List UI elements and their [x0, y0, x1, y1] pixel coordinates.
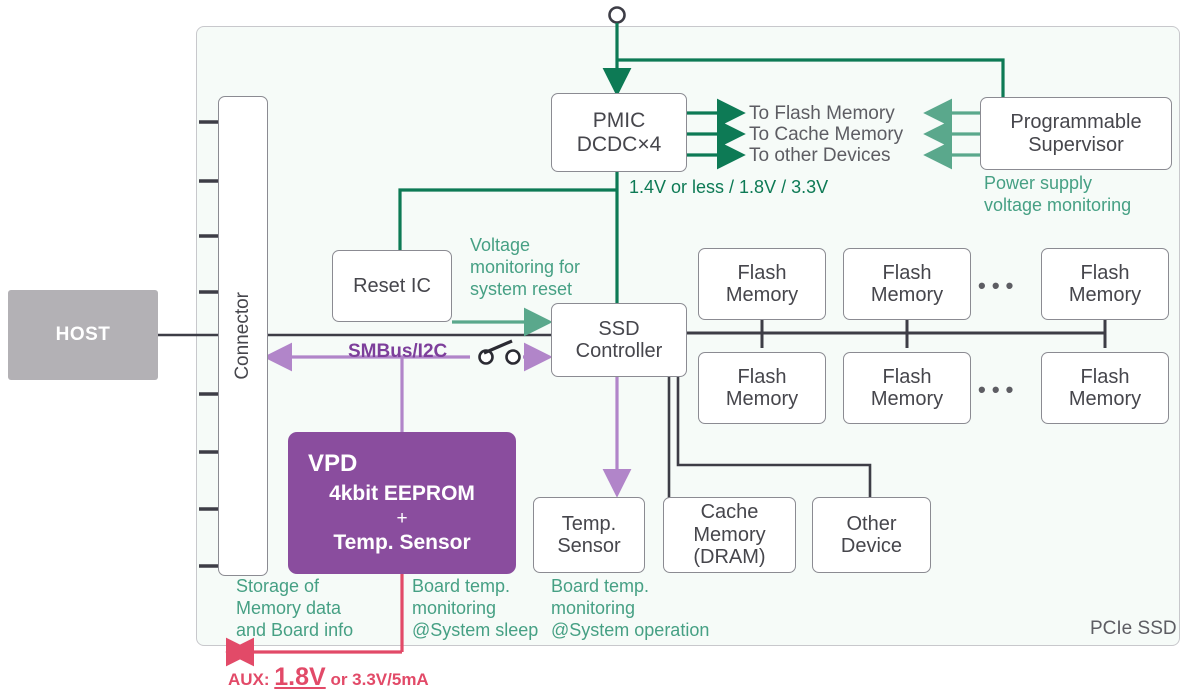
other-device-block[interactable]: Other Device	[812, 497, 931, 573]
temp-sleep-note-label: Board temp. monitoring @System sleep	[412, 575, 538, 641]
aux-suffix: or 3.3V/5mA	[326, 670, 429, 689]
vpd-block[interactable]: VPD 4kbit EEPROM + Temp. Sensor	[288, 432, 516, 574]
temp-sensor-block[interactable]: Temp. Sensor	[533, 497, 645, 573]
cache-memory-block[interactable]: Cache Memory (DRAM)	[663, 497, 796, 573]
connector-block[interactable]: Connector	[218, 96, 268, 576]
flash-row-bottom-ellipsis: • • •	[978, 376, 1013, 403]
vpd-line-4: Temp. Sensor	[333, 531, 470, 555]
reset-note-label: Voltage monitoring for system reset	[470, 234, 580, 300]
flash-memory-block[interactable]: Flash Memory	[843, 352, 971, 424]
aux-prefix: AUX:	[228, 670, 274, 689]
aux-power-label: AUX: 1.8V or 3.3V/5mA	[228, 662, 429, 693]
flash-memory-block[interactable]: Flash Memory	[1041, 248, 1169, 320]
temp-operation-note-label: Board temp. monitoring @System operation	[551, 575, 709, 641]
aux-highlight-value: 1.8V	[274, 663, 325, 691]
supervisor-note-label: Power supply voltage monitoring	[984, 172, 1131, 216]
flash-memory-block[interactable]: Flash Memory	[698, 248, 826, 320]
flash-memory-block[interactable]: Flash Memory	[843, 248, 971, 320]
vpd-plus-symbol: +	[396, 508, 407, 529]
flash-memory-block[interactable]: Flash Memory	[1041, 352, 1169, 424]
programmable-supervisor-block[interactable]: Programmable Supervisor	[980, 97, 1172, 170]
pcie-ssd-panel-label: PCIe SSD	[1090, 617, 1177, 640]
reset-ic-block[interactable]: Reset IC	[332, 250, 452, 322]
vpd-note-label: Storage of Memory data and Board info	[236, 575, 353, 641]
pmic-block[interactable]: PMIC DCDC×4	[551, 93, 687, 172]
host-block[interactable]: HOST	[8, 290, 158, 380]
flash-memory-block[interactable]: Flash Memory	[698, 352, 826, 424]
pmic-output-cache-label: To Cache Memory	[749, 123, 903, 146]
rail-voltage-label: 1.4V or less / 1.8V / 3.3V	[629, 176, 828, 198]
smbus-label: SMBus/I2C	[348, 340, 447, 363]
ssd-controller-block[interactable]: SSD Controller	[551, 303, 687, 377]
connector-label: Connector	[232, 292, 253, 380]
pmic-output-other-label: To other Devices	[749, 144, 891, 167]
pmic-output-flash-label: To Flash Memory	[749, 102, 895, 125]
vpd-line-2: 4kbit EEPROM	[329, 482, 475, 506]
vpd-line-1: VPD	[308, 451, 357, 478]
diagram-canvas: HOST Connector PMIC DCDC×4 Programmable …	[0, 0, 1200, 700]
flash-row-top-ellipsis: • • •	[978, 272, 1013, 299]
